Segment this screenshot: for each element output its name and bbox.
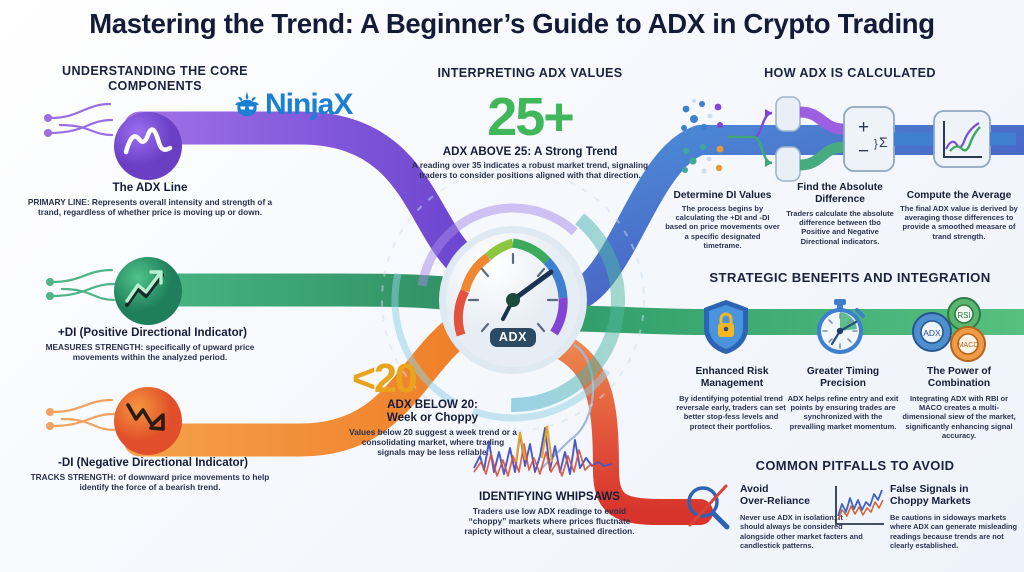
gear-label-rsi: RSI bbox=[957, 311, 970, 320]
benefit-title-0-line2: Management bbox=[672, 378, 792, 390]
data-nodes-icon bbox=[681, 99, 723, 174]
gear-label-adx: ADX bbox=[923, 328, 941, 338]
benefit-body-2: Integrating ADX with RBI or MACO creates… bbox=[898, 394, 1020, 440]
calc-step-title-0: Determine DI Values bbox=[665, 190, 780, 202]
pitfall-title-1-line1: False Signals in bbox=[890, 484, 1024, 496]
gauge-dial-icon bbox=[435, 222, 591, 378]
page-title: Mastering the Trend: A Beginner’s Guide … bbox=[0, 8, 1024, 40]
section-heading-strategic-benefits: STRATEGIC BENEFITS AND INTEGRATION bbox=[680, 270, 1020, 285]
node-body-adx-line: PRIMARY LINE: Represents overall intensi… bbox=[24, 197, 276, 217]
gauge-label-wrap: ADX bbox=[435, 328, 591, 347]
whipsaws-body: Traders use low ADX readinge to evoid “c… bbox=[462, 506, 637, 537]
magnifier-crossed-icon bbox=[682, 482, 734, 534]
infographic-canvas: Mastering the Trend: A Beginner’s Guide … bbox=[0, 0, 1024, 572]
wave-line-icon bbox=[112, 110, 184, 182]
svg-text:−: − bbox=[858, 141, 869, 162]
shield-lock-icon bbox=[700, 298, 752, 356]
up-arrow-chart-icon bbox=[112, 255, 184, 327]
calculation-diagram: + − } Σ bbox=[676, 95, 1016, 185]
section-heading-pitfalls: COMMON PITFALLS TO AVOID bbox=[690, 458, 1020, 473]
node-body-plus-di: MEASURES STRENGTH: specifically of upwar… bbox=[24, 342, 276, 362]
stopwatch-icon bbox=[812, 298, 868, 356]
gear-label-macd: MACD bbox=[958, 342, 979, 349]
section-heading-core-components: UNDERSTANDING THE CORE COMPONENTS bbox=[30, 64, 280, 94]
adx-above-title: ADX ABOVE 25: A Strong Trend bbox=[400, 145, 660, 159]
pitfall-title-1-line2: Choppy Markets bbox=[890, 496, 1024, 508]
down-arrow-chart-icon bbox=[112, 385, 184, 457]
benefit-title-2-line2: Combination bbox=[900, 378, 1018, 390]
benefit-title-0-line1: Enhanced Risk bbox=[672, 366, 792, 378]
node-title-minus-di: -DI (Negative Directional Indicator) bbox=[18, 456, 288, 470]
calc-step-body-0: The process begins by calculating the +D… bbox=[665, 204, 780, 250]
svg-text:Σ: Σ bbox=[879, 134, 888, 150]
volatile-spikes-chart-icon bbox=[472, 422, 622, 484]
benefit-body-0: By identifying potential trend reversale… bbox=[670, 394, 792, 431]
node-body-minus-di: TRACKS STRENGTH: of downward price movem… bbox=[24, 472, 276, 492]
whipsaws-title: IDENTIFYING WHIPSAWS bbox=[462, 490, 637, 504]
gauge-label: ADX bbox=[490, 328, 536, 347]
node-title-plus-di: +DI (Positive Directional Indicator) bbox=[20, 326, 285, 340]
benefit-title-1-line1: Greater Timing bbox=[788, 366, 898, 378]
calc-step-title-1: Find the Absolute Difference bbox=[786, 182, 894, 206]
calc-step-body-2: The final ADX value is derived by averag… bbox=[900, 204, 1018, 241]
choppy-chart-icon bbox=[830, 482, 888, 532]
benefit-title-2-line1: The Power of bbox=[900, 366, 1018, 378]
adx-above-number: 25+ bbox=[400, 90, 660, 144]
benefit-body-1: ADX helps refine entry and exit points b… bbox=[786, 394, 900, 431]
calc-step-body-1: Traders calculate the absolute differenc… bbox=[784, 209, 896, 246]
pitfall-body-1: Be cautions in sidoways markets where AD… bbox=[890, 513, 1022, 550]
svg-text:}: } bbox=[874, 138, 878, 150]
ninja-mask-icon bbox=[232, 90, 262, 120]
calc-step-title-2: Compute the Average bbox=[900, 190, 1018, 202]
adx-above-body: A reading over 35 indicates a robust mar… bbox=[408, 160, 652, 180]
svg-text:+: + bbox=[858, 117, 869, 138]
gears-icon: RSI ADX MACD bbox=[906, 296, 1002, 364]
node-title-adx-line: The ADX Line bbox=[35, 181, 265, 195]
section-heading-how-calculated: HOW ADX IS CALCULATED bbox=[700, 66, 1000, 81]
section-heading-interpreting: INTERPRETING ADX VALUES bbox=[400, 66, 660, 81]
adx-below-title-line1: ADX BELOW 20: bbox=[345, 398, 520, 412]
benefit-title-1-line2: Precision bbox=[788, 378, 898, 390]
adx-below-number: <20 bbox=[352, 358, 416, 399]
